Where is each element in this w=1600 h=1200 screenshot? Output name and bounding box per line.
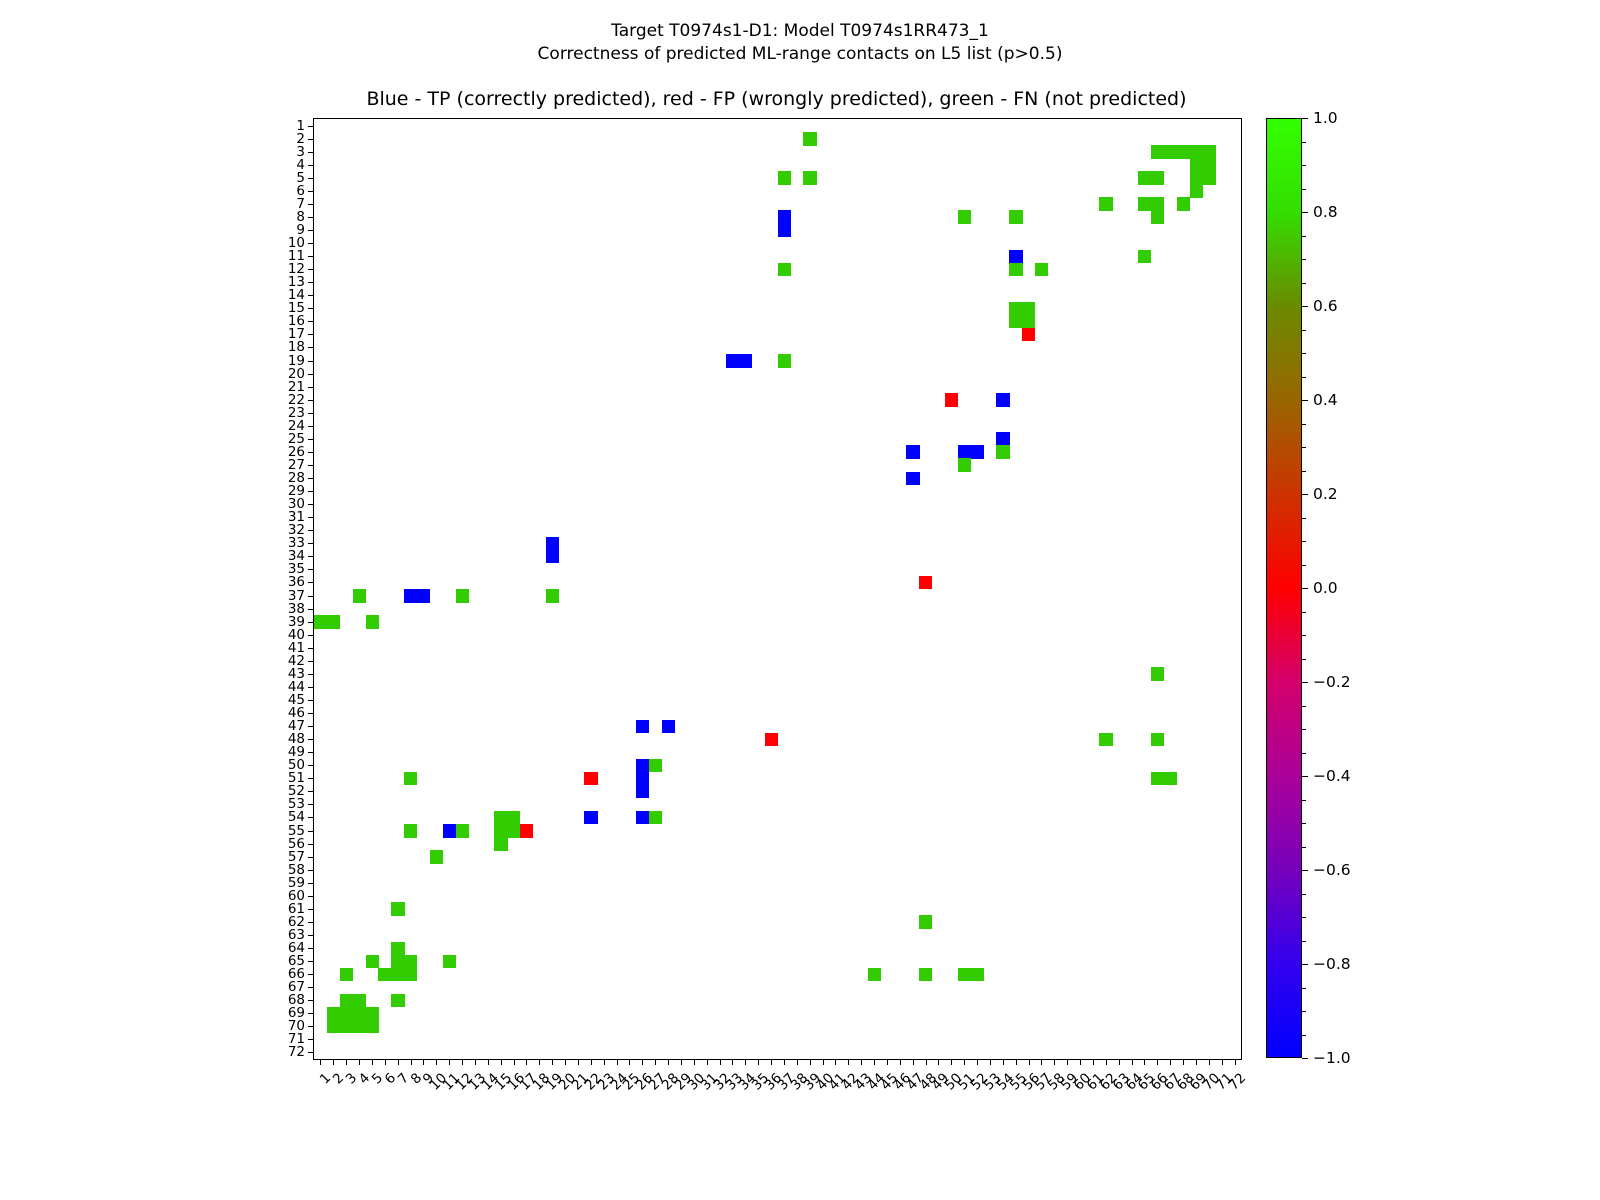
x-tick [385, 1059, 386, 1065]
colorbar-tick-label: 0.2 [1313, 485, 1338, 503]
y-tick [308, 491, 314, 492]
contact-cell-fn [1151, 145, 1164, 159]
contact-cell-fn [353, 994, 366, 1008]
colorbar-tick-label: 0.4 [1313, 391, 1338, 409]
contact-map-plot: 1234567891011121314151617181920212223242… [313, 118, 1242, 1060]
y-tick [308, 243, 314, 244]
contact-cell-fn [1035, 263, 1048, 277]
contact-cell-fn [391, 968, 404, 982]
contact-cell-fp [1022, 328, 1035, 342]
colorbar-minor-tick [1302, 917, 1306, 918]
contact-cell-fn [340, 994, 353, 1008]
y-tick [308, 152, 314, 153]
x-tick [462, 1059, 463, 1065]
colorbar-tick [1302, 306, 1308, 307]
contact-cell-fn [366, 955, 379, 969]
contact-cell-tp [404, 589, 417, 603]
y-tick [308, 308, 314, 309]
contact-cell-tp [971, 445, 984, 459]
contact-cell-fn [1202, 171, 1215, 185]
contact-cell-tp [417, 589, 430, 603]
y-tick [308, 204, 314, 205]
x-tick [578, 1059, 579, 1065]
contact-cell-fn [1138, 171, 1151, 185]
contact-cell-fn [1022, 315, 1035, 329]
x-tick [758, 1059, 759, 1065]
x-tick [797, 1059, 798, 1065]
y-tick [308, 543, 314, 544]
y-tick [308, 765, 314, 766]
contact-cell-tp [584, 811, 597, 825]
contact-cell-fn [1151, 210, 1164, 224]
contact-cell-fn [1177, 197, 1190, 211]
contact-cell-fn [971, 968, 984, 982]
x-tick [372, 1059, 373, 1065]
contact-cell-fn [1022, 302, 1035, 316]
contact-cell-fn [1099, 733, 1112, 747]
y-tick [308, 504, 314, 505]
contact-cell-fn [456, 589, 469, 603]
contact-cell-fn [1190, 184, 1203, 198]
contact-cell-fn [778, 171, 791, 185]
x-tick [1144, 1059, 1145, 1065]
contact-cell-fn [1190, 171, 1203, 185]
contact-cell-tp [958, 445, 971, 459]
x-tick [1209, 1059, 1210, 1065]
y-tick [308, 974, 314, 975]
y-tick [308, 230, 314, 231]
contact-cell-fn [1164, 145, 1177, 159]
contact-cell-fn [1151, 197, 1164, 211]
x-tick [488, 1059, 489, 1065]
colorbar-minor-tick [1302, 189, 1306, 190]
contact-cell-fn [1151, 772, 1164, 786]
contact-cell-fn [430, 850, 443, 864]
contact-cell-fn [803, 132, 816, 146]
contact-cell-fn [996, 445, 1009, 459]
x-tick [771, 1059, 772, 1065]
x-tick [1157, 1059, 1158, 1065]
x-tick [668, 1059, 669, 1065]
x-tick [1183, 1059, 1184, 1065]
x-tick [938, 1059, 939, 1065]
colorbar-tick-label: −0.8 [1313, 955, 1351, 973]
contact-cell-tp [546, 550, 559, 564]
x-tick [501, 1059, 502, 1065]
contact-cell-fn [1099, 197, 1112, 211]
contact-cell-fn [404, 955, 417, 969]
colorbar-minor-tick [1302, 612, 1306, 613]
contact-cell-tp [726, 354, 739, 368]
y-tick [308, 374, 314, 375]
y-tick [308, 400, 314, 401]
contact-cell-tp [636, 772, 649, 786]
x-tick [423, 1059, 424, 1065]
colorbar-minor-tick [1302, 518, 1306, 519]
contact-map-figure: Target T0974s1-D1: Model T0974s1RR473_1 … [0, 0, 1600, 1200]
contact-cell-fn [366, 1007, 379, 1021]
contact-cell-fp [520, 824, 533, 838]
x-tick [1222, 1059, 1223, 1065]
x-tick [1054, 1059, 1055, 1065]
colorbar-tick-label: 0.8 [1313, 203, 1338, 221]
y-tick [308, 909, 314, 910]
x-tick [1029, 1059, 1030, 1065]
contact-cell-fn [327, 1007, 340, 1021]
y-tick [308, 961, 314, 962]
y-tick [308, 674, 314, 675]
y-tick [308, 870, 314, 871]
contact-cell-fn [1009, 315, 1022, 329]
y-tick [308, 269, 314, 270]
colorbar-minor-tick [1302, 447, 1306, 448]
x-tick [604, 1059, 605, 1065]
y-tick [308, 569, 314, 570]
x-tick [913, 1059, 914, 1065]
contact-cell-fn [391, 955, 404, 969]
x-tick [951, 1059, 952, 1065]
contact-cell-fn [340, 1007, 353, 1021]
y-tick [308, 517, 314, 518]
x-tick [1170, 1059, 1171, 1065]
x-tick [359, 1059, 360, 1065]
x-tick [565, 1059, 566, 1065]
x-tick [1080, 1059, 1081, 1065]
y-tick [308, 1052, 314, 1053]
contact-cell-fn [778, 354, 791, 368]
y-tick [308, 530, 314, 531]
contact-cell-tp [662, 720, 675, 734]
colorbar-minor-tick [1302, 283, 1306, 284]
x-tick [617, 1059, 618, 1065]
colorbar-minor-tick [1302, 565, 1306, 566]
y-tick [308, 948, 314, 949]
contact-cell-fn [919, 915, 932, 929]
y-tick [308, 361, 314, 362]
x-tick [784, 1059, 785, 1065]
y-tick [308, 439, 314, 440]
colorbar-minor-tick [1302, 800, 1306, 801]
y-tick [308, 713, 314, 714]
contact-cell-fn [1151, 171, 1164, 185]
y-tick [308, 426, 314, 427]
x-tick [411, 1059, 412, 1065]
colorbar: 1.00.80.60.40.20.0−0.2−0.4−0.6−0.8−1.0 [1266, 118, 1302, 1058]
colorbar-minor-tick [1302, 1011, 1306, 1012]
x-tick [926, 1059, 927, 1065]
figure-suptitle: Target T0974s1-D1: Model T0974s1RR473_1 … [0, 20, 1600, 66]
contact-cell-fn [803, 171, 816, 185]
y-tick [308, 1026, 314, 1027]
contact-cell-fn [340, 968, 353, 982]
y-tick [308, 596, 314, 597]
contact-cell-fn [958, 210, 971, 224]
x-tick [1016, 1059, 1017, 1065]
y-tick [308, 217, 314, 218]
colorbar-tick-label: −0.4 [1313, 767, 1351, 785]
contact-cell-fn [404, 824, 417, 838]
y-tick [308, 726, 314, 727]
colorbar-tick-label: −0.6 [1313, 861, 1351, 879]
colorbar-minor-tick [1302, 165, 1306, 166]
contact-cell-fn [868, 968, 881, 982]
colorbar-tick-label: 0.6 [1313, 297, 1338, 315]
contact-cell-fn [649, 759, 662, 773]
x-tick [449, 1059, 450, 1065]
contact-cell-fn [1151, 667, 1164, 681]
y-tick [308, 700, 314, 701]
y-tick [308, 321, 314, 322]
y-tick [308, 556, 314, 557]
contact-cell-tp [739, 354, 752, 368]
x-tick [539, 1059, 540, 1065]
x-tick [835, 1059, 836, 1065]
contact-cell-fn [494, 811, 507, 825]
contact-cell-fn [404, 968, 417, 982]
colorbar-minor-tick [1302, 471, 1306, 472]
colorbar-tick-label: −0.2 [1313, 673, 1351, 691]
y-tick [308, 896, 314, 897]
x-tick [642, 1059, 643, 1065]
contact-cell-tp [1009, 250, 1022, 264]
contact-cell-fn [1177, 145, 1190, 159]
contact-cell-fn [404, 772, 417, 786]
x-tick [1196, 1059, 1197, 1065]
axes-title: Blue - TP (correctly predicted), red - F… [313, 88, 1240, 110]
x-tick [1003, 1059, 1004, 1065]
colorbar-tick-label: 1.0 [1313, 109, 1338, 127]
contact-cell-fn [1009, 263, 1022, 277]
y-tick [308, 609, 314, 610]
y-tick [308, 648, 314, 649]
x-tick [874, 1059, 875, 1065]
x-tick [514, 1059, 515, 1065]
contact-cell-fn [507, 824, 520, 838]
colorbar-minor-tick [1302, 236, 1306, 237]
contact-cell-fn [649, 811, 662, 825]
x-tick [720, 1059, 721, 1065]
x-tick [732, 1059, 733, 1065]
y-tick [308, 883, 314, 884]
contact-cell-fn [1164, 772, 1177, 786]
x-tick [526, 1059, 527, 1065]
contact-cell-fn [1151, 733, 1164, 747]
contact-cell-tp [636, 759, 649, 773]
contact-cells-layer [314, 119, 1241, 1059]
y-tick [308, 165, 314, 166]
colorbar-tick [1302, 494, 1308, 495]
y-tick [308, 256, 314, 257]
colorbar-tick [1302, 588, 1308, 589]
contact-cell-tp [778, 223, 791, 237]
colorbar-tick [1302, 212, 1308, 213]
contact-cell-tp [443, 824, 456, 838]
y-tick [308, 295, 314, 296]
contact-cell-fn [340, 1020, 353, 1034]
contact-cell-fn [1190, 145, 1203, 159]
colorbar-tick-label: 0.0 [1313, 579, 1338, 597]
y-tick [308, 831, 314, 832]
y-tick [308, 282, 314, 283]
contact-cell-fn [366, 1020, 379, 1034]
y-tick [308, 191, 314, 192]
contact-cell-fn [919, 968, 932, 982]
contact-cell-tp [906, 472, 919, 486]
contact-cell-fn [546, 589, 559, 603]
contact-cell-fp [919, 576, 932, 590]
colorbar-tick [1302, 1058, 1308, 1059]
colorbar-tick [1302, 682, 1308, 683]
x-tick [964, 1059, 965, 1065]
y-tick [308, 622, 314, 623]
colorbar-minor-tick [1302, 541, 1306, 542]
colorbar-minor-tick [1302, 424, 1306, 425]
y-tick [308, 452, 314, 453]
y-tick [308, 661, 314, 662]
y-tick [308, 791, 314, 792]
contact-cell-tp [636, 720, 649, 734]
x-tick [320, 1059, 321, 1065]
colorbar-tick-label: −1.0 [1313, 1049, 1351, 1067]
contact-cell-fn [1009, 210, 1022, 224]
y-tick [308, 478, 314, 479]
y-tick [308, 387, 314, 388]
colorbar-minor-tick [1302, 729, 1306, 730]
x-tick [861, 1059, 862, 1065]
colorbar-tick [1302, 776, 1308, 777]
colorbar-minor-tick [1302, 377, 1306, 378]
contact-cell-fn [456, 824, 469, 838]
x-tick [552, 1059, 553, 1065]
x-tick [900, 1059, 901, 1065]
contact-cell-fn [494, 837, 507, 851]
colorbar-minor-tick [1302, 659, 1306, 660]
x-tick [1041, 1059, 1042, 1065]
contact-cell-fn [958, 458, 971, 472]
y-tick [308, 778, 314, 779]
contact-cell-tp [636, 785, 649, 799]
contact-cell-tp [906, 445, 919, 459]
x-tick [398, 1059, 399, 1065]
contact-cell-tp [636, 811, 649, 825]
y-tick [308, 347, 314, 348]
x-tick [1106, 1059, 1107, 1065]
x-tick [694, 1059, 695, 1065]
y-tick [308, 139, 314, 140]
x-tick [1093, 1059, 1094, 1065]
x-tick [977, 1059, 978, 1065]
colorbar-minor-tick [1302, 142, 1306, 143]
contact-cell-fn [1202, 145, 1215, 159]
colorbar-minor-tick [1302, 635, 1306, 636]
y-tick [308, 1039, 314, 1040]
contact-cell-fn [778, 263, 791, 277]
y-tick [308, 635, 314, 636]
contact-cell-fn [1202, 158, 1215, 172]
contact-cell-tp [546, 537, 559, 551]
y-tick [308, 857, 314, 858]
contact-cell-fn [443, 955, 456, 969]
colorbar-tick [1302, 964, 1308, 965]
colorbar-gradient [1266, 118, 1302, 1058]
contact-cell-fn [378, 968, 391, 982]
y-tick [308, 178, 314, 179]
y-tick [308, 922, 314, 923]
contact-cell-fn [353, 589, 366, 603]
contact-cell-fn [327, 1020, 340, 1034]
contact-cell-fn [391, 902, 404, 916]
contact-cell-fp [945, 393, 958, 407]
contact-cell-fn [1190, 158, 1203, 172]
contact-cell-fn [391, 994, 404, 1008]
x-tick [681, 1059, 682, 1065]
x-tick [629, 1059, 630, 1065]
x-tick [990, 1059, 991, 1065]
x-tick [745, 1059, 746, 1065]
colorbar-minor-tick [1302, 823, 1306, 824]
y-tick [308, 987, 314, 988]
x-tick [848, 1059, 849, 1065]
y-tick [308, 1000, 314, 1001]
x-tick [823, 1059, 824, 1065]
x-tick [333, 1059, 334, 1065]
x-tick [1132, 1059, 1133, 1065]
contact-cell-fn [353, 1007, 366, 1021]
colorbar-minor-tick [1302, 353, 1306, 354]
y-tick [308, 334, 314, 335]
y-tick [308, 804, 314, 805]
contact-cell-fn [1138, 197, 1151, 211]
contact-cell-fn [507, 811, 520, 825]
x-tick [655, 1059, 656, 1065]
colorbar-tick [1302, 400, 1308, 401]
y-tick [308, 844, 314, 845]
colorbar-minor-tick [1302, 1035, 1306, 1036]
contact-cell-fn [327, 615, 340, 629]
x-tick [1067, 1059, 1068, 1065]
x-tick [887, 1059, 888, 1065]
y-tick [308, 687, 314, 688]
y-tick [308, 935, 314, 936]
contact-cell-fn [391, 942, 404, 956]
y-tick [308, 739, 314, 740]
colorbar-tick [1302, 870, 1308, 871]
x-tick [475, 1059, 476, 1065]
contact-cell-fn [958, 968, 971, 982]
colorbar-minor-tick [1302, 259, 1306, 260]
contact-cell-fp [765, 733, 778, 747]
y-tick [308, 817, 314, 818]
y-tick [308, 413, 314, 414]
colorbar-minor-tick [1302, 847, 1306, 848]
x-tick [707, 1059, 708, 1065]
colorbar-minor-tick [1302, 941, 1306, 942]
y-tick [308, 582, 314, 583]
x-tick [436, 1059, 437, 1065]
y-tick [308, 126, 314, 127]
colorbar-minor-tick [1302, 753, 1306, 754]
y-tick [308, 465, 314, 466]
contact-cell-fn [1009, 302, 1022, 316]
colorbar-minor-tick [1302, 706, 1306, 707]
contact-cell-fn [366, 615, 379, 629]
x-tick [810, 1059, 811, 1065]
y-tick [308, 752, 314, 753]
contact-cell-fn [353, 1020, 366, 1034]
contact-cell-tp [778, 210, 791, 224]
x-tick [1119, 1059, 1120, 1065]
contact-cell-tp [996, 432, 1009, 446]
